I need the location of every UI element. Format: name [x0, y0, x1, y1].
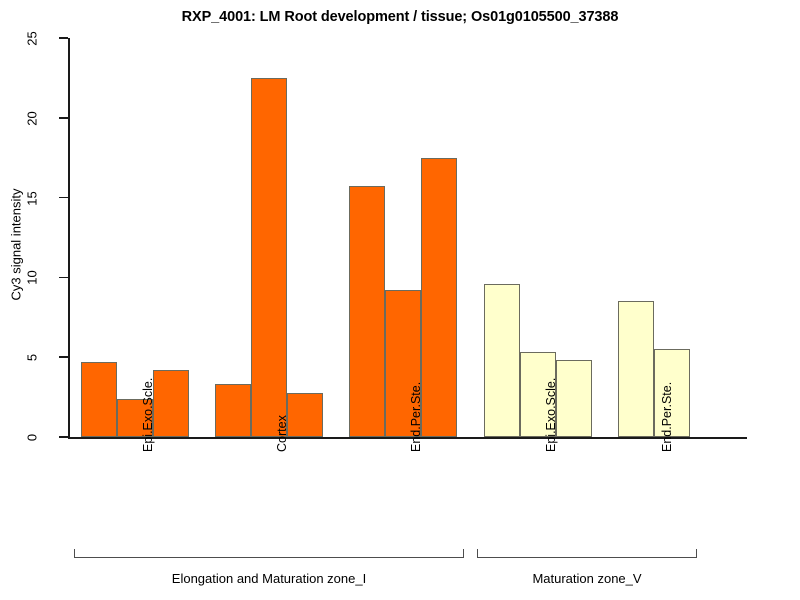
- bar: [484, 284, 520, 437]
- zone-label: Elongation and Maturation zone_I: [74, 571, 464, 586]
- zone-label: Maturation zone_V: [477, 571, 697, 586]
- x-tick-label: Epi.Exo.Scle.: [141, 378, 155, 452]
- plot-area: [0, 0, 800, 600]
- bar: [421, 158, 457, 437]
- bar-chart: RXP_4001: LM Root development / tissue; …: [0, 0, 800, 600]
- zone-bracket: [74, 549, 464, 558]
- zone-bracket: [477, 549, 697, 558]
- bar: [215, 384, 251, 437]
- x-tick-label: Cortex: [275, 415, 289, 452]
- bar: [349, 186, 385, 437]
- x-tick-label: Epi.Exo.Scle.: [544, 378, 558, 452]
- bar: [81, 362, 117, 437]
- bar: [618, 301, 654, 437]
- x-tick-label: End.Per.Ste.: [409, 382, 423, 452]
- bar: [287, 393, 323, 437]
- bar: [251, 78, 287, 437]
- x-tick-label: End.Per.Ste.: [660, 382, 674, 452]
- bar: [556, 360, 592, 437]
- bar: [153, 370, 189, 437]
